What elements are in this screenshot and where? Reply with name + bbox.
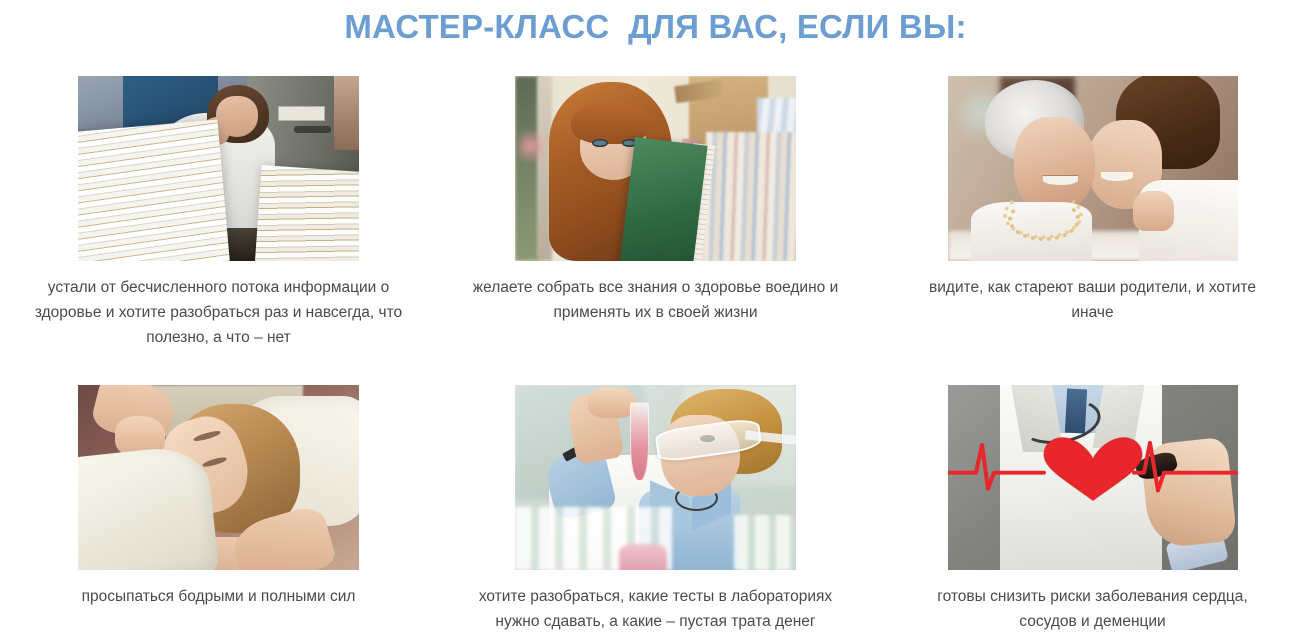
wall-shape — [334, 76, 359, 150]
benefit-image-1 — [78, 76, 359, 261]
benefit-caption-4: просыпаться бодрыми и полными сил — [19, 584, 419, 609]
photo-doctor-drawing-heart — [948, 385, 1238, 570]
benefit-card-2: желаете собрать все знания о здоровье во… — [437, 76, 874, 350]
photo-lab-technician — [515, 385, 796, 570]
cabinet-label-shape — [278, 106, 325, 121]
green-book-shape — [620, 137, 708, 261]
benefit-card-3: видите, как стареют ваши родители, и хот… — [874, 76, 1311, 350]
glassware-row-right-shape — [734, 515, 796, 571]
blurred-book-shape — [518, 124, 543, 168]
benefit-caption-6: готовы снизить риски заболевания сердца,… — [913, 584, 1273, 634]
benefit-image-6 — [948, 385, 1238, 570]
benefit-image-3 — [948, 76, 1238, 261]
page-title: МАСТЕР-КЛАСС ДЛЯ ВАС, ЕСЛИ ВЫ: — [0, 0, 1311, 52]
photo-tired-woman-papers — [78, 76, 359, 261]
pink-flask-shape — [619, 544, 667, 570]
paper-stack-right-shape — [254, 165, 359, 261]
photo-woman-waking-up — [78, 385, 359, 570]
photo-woman-green-book — [515, 76, 796, 261]
benefit-caption-1: устали от бесчисленного потока информаци… — [19, 275, 419, 350]
benefits-row-top: устали от бесчисленного потока информаци… — [0, 76, 1311, 350]
benefits-row-bottom: просыпаться бодрыми и полными сил — [0, 385, 1311, 634]
benefit-caption-5: хотите разобраться, какие тесты в лабора… — [456, 584, 856, 634]
cabinet-handle-shape — [294, 126, 331, 133]
test-tube-shape — [630, 402, 649, 482]
benefit-card-4: просыпаться бодрыми и полными сил — [0, 385, 437, 634]
photo-elderly-and-daughter — [948, 76, 1238, 261]
benefit-card-1: устали от бесчисленного потока информаци… — [0, 76, 437, 350]
pearl-necklace-2-shape — [1008, 198, 1080, 241]
benefit-caption-3: видите, как стареют ваши родители, и хот… — [913, 275, 1273, 325]
benefit-image-2 — [515, 76, 796, 261]
books-right-shape — [706, 132, 796, 262]
eye-left-shape — [592, 139, 607, 147]
hand-shape — [1133, 191, 1174, 232]
hand-shape — [588, 387, 636, 418]
benefit-caption-2: желаете собрать все знания о здоровье во… — [456, 275, 856, 325]
benefits-grid: устали от бесчисленного потока информаци… — [0, 76, 1311, 634]
benefit-card-6: готовы снизить риски заболевания сердца,… — [874, 385, 1311, 634]
benefit-card-5: хотите разобраться, какие тесты в лабора… — [437, 385, 874, 634]
paper-stack-left-shape — [78, 119, 230, 261]
benefit-image-4 — [78, 385, 359, 570]
benefit-image-5 — [515, 385, 796, 570]
